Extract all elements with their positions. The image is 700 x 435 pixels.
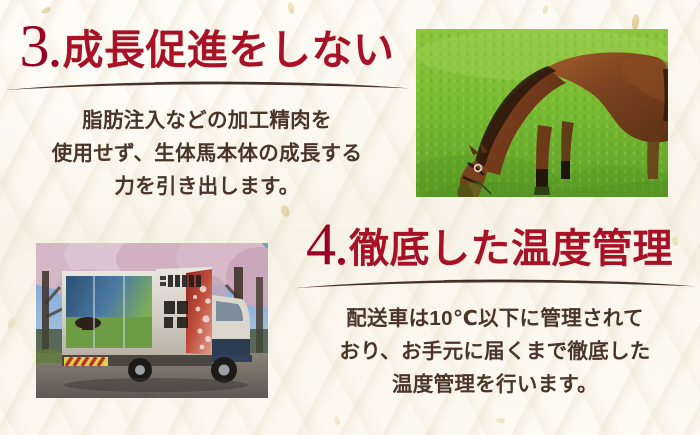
grazing-horse-photo — [416, 29, 668, 197]
gold-fleck — [333, 415, 342, 426]
body-line: 配送車は10℃以下に管理されて — [290, 302, 700, 335]
gold-fleck — [6, 317, 17, 330]
section-3-title: 成長促進をしない — [63, 30, 395, 71]
section-4-heading: 4. 徹底した温度管理 — [290, 212, 700, 272]
promo-page: 3. 成長促進をしない 脂肪注入などの加工精肉を 使用せず、生体馬本体の成長する… — [0, 0, 700, 435]
section-4-body: 配送車は10℃以下に管理されて おり、お手元に届くまで徹底した 温度管理を行いま… — [290, 302, 700, 402]
section-3: 3. 成長促進をしない 脂肪注入などの加工精肉を 使用せず、生体馬本体の成長する… — [0, 14, 414, 204]
brush-underline — [290, 276, 700, 292]
gold-fleck — [542, 4, 549, 14]
body-line: 力を引き出します。 — [0, 170, 414, 203]
section-4-number: 4. — [306, 214, 347, 274]
section-4: 4. 徹底した温度管理 配送車は10℃以下に管理されて おり、お手元に届くまで徹… — [290, 212, 700, 402]
body-line: 脂肪注入などの加工精肉を — [0, 104, 414, 137]
delivery-truck-photo — [36, 243, 268, 398]
gold-fleck — [631, 14, 640, 31]
body-line: 温度管理を行います。 — [290, 368, 700, 401]
body-line: おり、お手元に届くまで徹底した — [290, 335, 700, 368]
section-4-title: 徹底した温度管理 — [349, 229, 673, 269]
gold-fleck — [496, 417, 506, 424]
body-line: 使用せず、生体馬本体の成長する — [0, 137, 414, 170]
brush-underline — [0, 78, 414, 94]
section-3-heading: 3. 成長促進をしない — [0, 14, 414, 74]
section-3-body: 脂肪注入などの加工精肉を 使用せず、生体馬本体の成長する 力を引き出します。 — [0, 104, 414, 204]
section-3-number: 3. — [20, 16, 61, 76]
gold-fleck — [279, 204, 290, 218]
gold-fleck — [287, 2, 295, 15]
